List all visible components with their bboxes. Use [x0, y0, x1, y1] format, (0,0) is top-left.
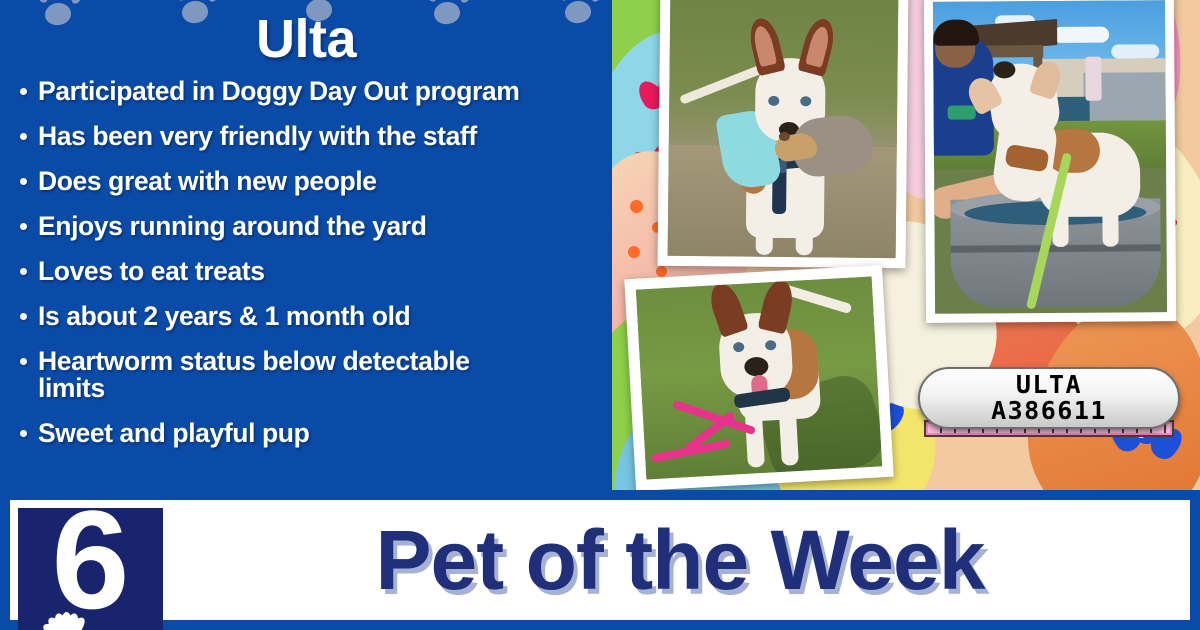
list-item: Heartworm status below detectable limits — [10, 348, 610, 401]
list-item: Is about 2 years & 1 month old — [10, 303, 610, 330]
nbc-6-logo: 6 — [18, 508, 163, 630]
pet-id-tag: ULTA A386611 — [918, 367, 1180, 429]
list-item: Does great with new people — [10, 168, 610, 195]
list-item: Participated in Doggy Day Out program — [10, 78, 610, 105]
pet-of-the-week-banner: 6 Pet of the Week — [0, 490, 1200, 630]
poster-top-area: Ulta Participated in Doggy Day Out progr… — [0, 0, 1200, 490]
pet-photo-in-water-tub — [924, 0, 1176, 323]
pet-of-the-week-poster: Ulta Participated in Doggy Day Out progr… — [0, 0, 1200, 630]
pet-attributes-list: Participated in Doggy Day Out program Ha… — [10, 78, 610, 465]
pet-photo-on-leash — [624, 265, 893, 490]
list-item: Enjoys running around the yard — [10, 213, 610, 240]
banner-inner: 6 Pet of the Week — [10, 500, 1190, 620]
list-item: Loves to eat treats — [10, 258, 610, 285]
pet-photo-image — [933, 0, 1167, 314]
banner-title: Pet of the Week — [170, 500, 1190, 620]
nbc-peacock-icon — [32, 592, 94, 630]
list-item: Sweet and playful pup — [10, 420, 610, 447]
pet-name-title: Ulta — [0, 12, 612, 66]
photo-collage: ULTA A386611 — [612, 0, 1200, 490]
pet-info-panel: Ulta Participated in Doggy Day Out progr… — [0, 0, 612, 490]
pet-photo-with-toy — [658, 0, 909, 268]
pet-photo-image — [636, 277, 882, 480]
list-item: Has been very friendly with the staff — [10, 123, 610, 150]
pet-photo-image — [668, 0, 899, 258]
id-tag-name: ULTA — [1016, 372, 1082, 398]
id-tag-number: A386611 — [991, 398, 1107, 424]
